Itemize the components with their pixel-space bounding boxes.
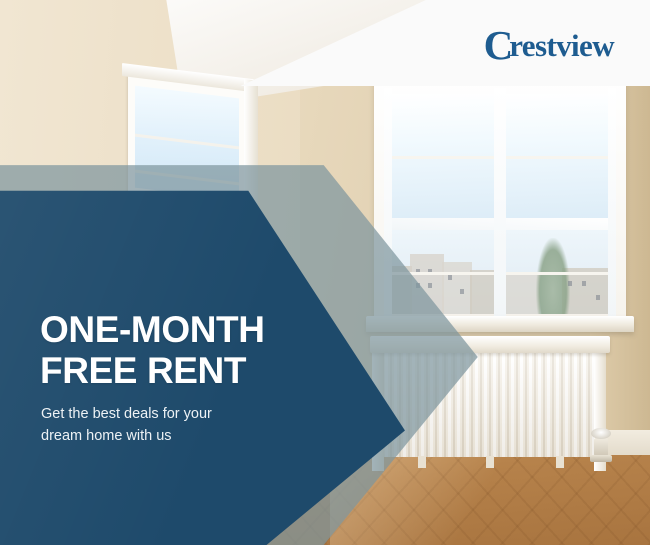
building [470, 270, 494, 314]
valve-body [594, 438, 608, 456]
radiator-foot [418, 456, 426, 468]
valve-base [590, 455, 612, 462]
logo-name-rest: restview [509, 28, 614, 63]
building [442, 262, 472, 314]
headline: ONE-MONTH FREE RENT [40, 310, 340, 391]
building-window [428, 283, 432, 288]
promotional-banner: Crestview ONE-MONTH FREE RENT Get the be… [0, 0, 650, 545]
brand-logo[interactable]: Crestview [484, 25, 614, 65]
building-window [448, 275, 452, 280]
subheadline: Get the best deals for your dream home w… [41, 403, 266, 448]
building-window [568, 281, 572, 286]
tree [536, 238, 570, 314]
radiator-foot [556, 456, 564, 468]
logo-wordmark: Crestview [484, 30, 614, 61]
window-mullion-vertical [494, 88, 506, 320]
radiator-valve [588, 424, 614, 464]
building-window [460, 289, 464, 294]
window-stile-right [608, 88, 616, 320]
building-window [596, 295, 600, 300]
valve-knob [591, 428, 611, 439]
building [506, 274, 540, 314]
logo-initial: C [484, 22, 512, 68]
building-window [582, 281, 586, 286]
radiator-foot [486, 456, 494, 468]
